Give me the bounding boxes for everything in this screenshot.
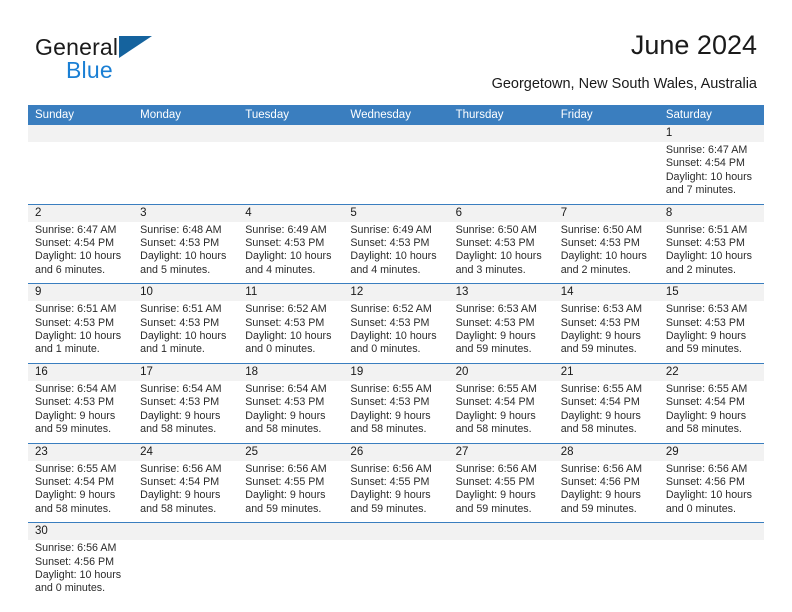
- day-cell[interactable]: Sunrise: 6:56 AMSunset: 4:55 PMDaylight:…: [343, 461, 448, 523]
- day-detail-line: Sunset: 4:53 PM: [35, 396, 127, 409]
- weekday-header-sunday: Sunday: [28, 105, 133, 125]
- day-number[interactable]: 14: [554, 284, 659, 301]
- day-number[interactable]: 28: [554, 444, 659, 461]
- calendar-week-row: 1Sunrise: 6:47 AMSunset: 4:54 PMDaylight…: [28, 125, 764, 204]
- day-detail-line: Daylight: 9 hours: [561, 489, 653, 502]
- day-cell-empty: [343, 142, 448, 204]
- day-detail-line: Sunrise: 6:50 AM: [561, 224, 653, 237]
- day-detail-line: Sunrise: 6:55 AM: [35, 463, 127, 476]
- day-detail-line: Sunrise: 6:56 AM: [456, 463, 548, 476]
- day-cell[interactable]: Sunrise: 6:52 AMSunset: 4:53 PMDaylight:…: [238, 301, 343, 363]
- day-detail-line: and 58 minutes.: [245, 423, 337, 436]
- day-detail-line: Daylight: 10 hours: [35, 569, 127, 582]
- day-detail-line: Daylight: 9 hours: [140, 410, 232, 423]
- day-detail-line: and 58 minutes.: [140, 503, 232, 516]
- day-detail-line: Sunset: 4:53 PM: [245, 237, 337, 250]
- day-cell-empty: [449, 142, 554, 204]
- day-detail-line: Sunset: 4:54 PM: [35, 476, 127, 489]
- day-cell-empty: [554, 142, 659, 204]
- day-cell[interactable]: Sunrise: 6:51 AMSunset: 4:53 PMDaylight:…: [133, 301, 238, 363]
- day-cell[interactable]: Sunrise: 6:50 AMSunset: 4:53 PMDaylight:…: [449, 222, 554, 284]
- day-detail-line: Sunset: 4:56 PM: [666, 476, 758, 489]
- day-cell[interactable]: Sunrise: 6:49 AMSunset: 4:53 PMDaylight:…: [343, 222, 448, 284]
- page-header: General Blue June 2024 Georgetown, New S…: [35, 30, 757, 98]
- day-detail-line: Sunset: 4:53 PM: [350, 396, 442, 409]
- day-detail-line: and 59 minutes.: [456, 343, 548, 356]
- general-blue-logo[interactable]: General Blue: [35, 34, 245, 94]
- weekday-header-row: SundayMondayTuesdayWednesdayThursdayFrid…: [28, 105, 764, 125]
- day-cell[interactable]: Sunrise: 6:51 AMSunset: 4:53 PMDaylight:…: [659, 222, 764, 284]
- calendar-page: General Blue June 2024 Georgetown, New S…: [0, 0, 792, 612]
- day-cell[interactable]: Sunrise: 6:51 AMSunset: 4:53 PMDaylight:…: [28, 301, 133, 363]
- day-detail-line: Sunrise: 6:47 AM: [666, 144, 758, 157]
- day-number[interactable]: 2: [28, 205, 133, 222]
- day-number[interactable]: 3: [133, 205, 238, 222]
- day-detail-line: Sunrise: 6:49 AM: [245, 224, 337, 237]
- day-number-band: 2345678: [28, 205, 764, 222]
- day-detail-line: Sunrise: 6:56 AM: [350, 463, 442, 476]
- day-detail-line: Daylight: 9 hours: [561, 410, 653, 423]
- day-cell[interactable]: Sunrise: 6:53 AMSunset: 4:53 PMDaylight:…: [554, 301, 659, 363]
- day-cell[interactable]: Sunrise: 6:56 AMSunset: 4:56 PMDaylight:…: [554, 461, 659, 523]
- day-cell[interactable]: Sunrise: 6:53 AMSunset: 4:53 PMDaylight:…: [449, 301, 554, 363]
- day-detail-line: and 1 minute.: [35, 343, 127, 356]
- day-detail-line: and 58 minutes.: [140, 423, 232, 436]
- day-detail-line: Sunset: 4:53 PM: [140, 237, 232, 250]
- day-detail-line: Daylight: 10 hours: [456, 250, 548, 263]
- day-number[interactable]: 20: [449, 364, 554, 381]
- day-detail-line: and 58 minutes.: [666, 423, 758, 436]
- day-detail-line: Daylight: 10 hours: [350, 250, 442, 263]
- calendar-week-row: 2345678Sunrise: 6:47 AMSunset: 4:54 PMDa…: [28, 204, 764, 284]
- day-detail-line: Daylight: 10 hours: [140, 330, 232, 343]
- day-cell-empty: [238, 540, 343, 602]
- day-detail-line: Sunset: 4:55 PM: [456, 476, 548, 489]
- day-body-band: Sunrise: 6:47 AMSunset: 4:54 PMDaylight:…: [28, 222, 764, 284]
- day-detail-line: and 59 minutes.: [561, 503, 653, 516]
- day-detail-line: and 1 minute.: [140, 343, 232, 356]
- day-detail-line: and 6 minutes.: [35, 264, 127, 277]
- day-cell-empty: [238, 142, 343, 204]
- day-detail-line: Sunrise: 6:51 AM: [140, 303, 232, 316]
- day-detail-line: Sunset: 4:54 PM: [456, 396, 548, 409]
- triangle-flag-icon: [119, 36, 152, 58]
- day-number-band: 1: [28, 125, 764, 142]
- day-detail-line: Sunrise: 6:54 AM: [245, 383, 337, 396]
- day-detail-line: Sunset: 4:53 PM: [456, 317, 548, 330]
- calendar-week-row: 16171819202122Sunrise: 6:54 AMSunset: 4:…: [28, 363, 764, 443]
- calendar-weeks: 1Sunrise: 6:47 AMSunset: 4:54 PMDaylight…: [28, 125, 764, 602]
- day-body-band: Sunrise: 6:47 AMSunset: 4:54 PMDaylight:…: [28, 142, 764, 204]
- day-detail-line: Sunset: 4:55 PM: [350, 476, 442, 489]
- day-detail-line: Daylight: 10 hours: [666, 250, 758, 263]
- day-body-band: Sunrise: 6:55 AMSunset: 4:54 PMDaylight:…: [28, 461, 764, 523]
- day-detail-line: Daylight: 9 hours: [456, 410, 548, 423]
- day-detail-line: Sunset: 4:56 PM: [561, 476, 653, 489]
- day-detail-line: Sunset: 4:53 PM: [666, 317, 758, 330]
- day-cell[interactable]: Sunrise: 6:50 AMSunset: 4:53 PMDaylight:…: [554, 222, 659, 284]
- day-cell[interactable]: Sunrise: 6:55 AMSunset: 4:54 PMDaylight:…: [28, 461, 133, 523]
- day-number[interactable]: 9: [28, 284, 133, 301]
- day-detail-line: Daylight: 10 hours: [245, 330, 337, 343]
- day-detail-line: Daylight: 9 hours: [245, 489, 337, 502]
- day-detail-line: and 7 minutes.: [666, 184, 758, 197]
- day-detail-line: Sunrise: 6:53 AM: [561, 303, 653, 316]
- day-body-band: Sunrise: 6:54 AMSunset: 4:53 PMDaylight:…: [28, 381, 764, 443]
- day-detail-line: Sunrise: 6:51 AM: [35, 303, 127, 316]
- day-detail-line: Sunrise: 6:56 AM: [245, 463, 337, 476]
- day-number[interactable]: 5: [343, 205, 448, 222]
- day-detail-line: Daylight: 10 hours: [666, 171, 758, 184]
- day-detail-line: and 59 minutes.: [350, 503, 442, 516]
- day-number[interactable]: 19: [343, 364, 448, 381]
- day-detail-line: Daylight: 10 hours: [561, 250, 653, 263]
- day-number[interactable]: 21: [554, 364, 659, 381]
- day-detail-line: Sunrise: 6:53 AM: [456, 303, 548, 316]
- day-detail-line: Sunset: 4:53 PM: [140, 317, 232, 330]
- weekday-header-thursday: Thursday: [449, 105, 554, 125]
- weekday-header-monday: Monday: [133, 105, 238, 125]
- day-cell[interactable]: Sunrise: 6:48 AMSunset: 4:53 PMDaylight:…: [133, 222, 238, 284]
- day-detail-line: Daylight: 10 hours: [350, 330, 442, 343]
- day-detail-line: Sunrise: 6:55 AM: [456, 383, 548, 396]
- day-detail-line: Sunrise: 6:56 AM: [140, 463, 232, 476]
- day-detail-line: Sunrise: 6:50 AM: [456, 224, 548, 237]
- day-detail-line: and 0 minutes.: [666, 503, 758, 516]
- day-cell-empty: [554, 540, 659, 602]
- day-detail-line: Sunrise: 6:56 AM: [666, 463, 758, 476]
- day-detail-line: Sunrise: 6:56 AM: [561, 463, 653, 476]
- day-detail-line: Sunset: 4:53 PM: [35, 317, 127, 330]
- day-detail-line: Daylight: 10 hours: [140, 250, 232, 263]
- calendar-week-row: 9101112131415Sunrise: 6:51 AMSunset: 4:5…: [28, 283, 764, 363]
- day-detail-line: Sunset: 4:54 PM: [666, 396, 758, 409]
- day-number[interactable]: 17: [133, 364, 238, 381]
- day-cell[interactable]: Sunrise: 6:54 AMSunset: 4:53 PMDaylight:…: [133, 381, 238, 443]
- day-cell-empty: [449, 540, 554, 602]
- day-detail-line: Sunset: 4:56 PM: [35, 556, 127, 569]
- day-detail-line: Daylight: 10 hours: [35, 330, 127, 343]
- day-detail-line: and 58 minutes.: [561, 423, 653, 436]
- day-cell[interactable]: Sunrise: 6:52 AMSunset: 4:53 PMDaylight:…: [343, 301, 448, 363]
- weekday-header-tuesday: Tuesday: [238, 105, 343, 125]
- calendar-week-row: 23242526272829Sunrise: 6:55 AMSunset: 4:…: [28, 443, 764, 523]
- day-detail-line: Daylight: 9 hours: [140, 489, 232, 502]
- day-detail-line: Daylight: 9 hours: [666, 410, 758, 423]
- day-detail-line: and 58 minutes.: [350, 423, 442, 436]
- day-detail-line: and 59 minutes.: [35, 423, 127, 436]
- day-cell[interactable]: Sunrise: 6:55 AMSunset: 4:54 PMDaylight:…: [659, 381, 764, 443]
- day-number-band: 23242526272829: [28, 444, 764, 461]
- day-number[interactable]: 15: [659, 284, 764, 301]
- day-detail-line: and 5 minutes.: [140, 264, 232, 277]
- day-detail-line: Sunrise: 6:52 AM: [245, 303, 337, 316]
- day-detail-line: Daylight: 9 hours: [666, 330, 758, 343]
- day-detail-line: Sunrise: 6:55 AM: [561, 383, 653, 396]
- day-detail-line: and 59 minutes.: [666, 343, 758, 356]
- day-detail-line: and 4 minutes.: [350, 264, 442, 277]
- day-cell[interactable]: Sunrise: 6:56 AMSunset: 4:55 PMDaylight:…: [238, 461, 343, 523]
- day-cell[interactable]: Sunrise: 6:54 AMSunset: 4:53 PMDaylight:…: [28, 381, 133, 443]
- day-detail-line: Daylight: 9 hours: [350, 410, 442, 423]
- day-number[interactable]: 13: [449, 284, 554, 301]
- day-number[interactable]: 27: [449, 444, 554, 461]
- day-detail-line: Sunset: 4:53 PM: [456, 237, 548, 250]
- day-cell[interactable]: Sunrise: 6:56 AMSunset: 4:54 PMDaylight:…: [133, 461, 238, 523]
- day-number[interactable]: 10: [133, 284, 238, 301]
- sunrise-sunset-calendar: SundayMondayTuesdayWednesdayThursdayFrid…: [28, 105, 764, 602]
- day-detail-line: Daylight: 9 hours: [350, 489, 442, 502]
- weekday-header-saturday: Saturday: [659, 105, 764, 125]
- day-number[interactable]: 25: [238, 444, 343, 461]
- day-detail-line: and 59 minutes.: [245, 503, 337, 516]
- day-detail-line: and 58 minutes.: [456, 423, 548, 436]
- day-number[interactable]: 7: [554, 205, 659, 222]
- day-detail-line: and 0 minutes.: [350, 343, 442, 356]
- logo-text-blue: Blue: [66, 57, 113, 84]
- weekday-header-wednesday: Wednesday: [343, 105, 448, 125]
- day-detail-line: Sunrise: 6:51 AM: [666, 224, 758, 237]
- day-detail-line: and 3 minutes.: [456, 264, 548, 277]
- weekday-header-friday: Friday: [554, 105, 659, 125]
- day-detail-line: and 2 minutes.: [561, 264, 653, 277]
- day-number-band: 30: [28, 523, 764, 540]
- day-cell-empty: [659, 540, 764, 602]
- day-detail-line: Daylight: 10 hours: [245, 250, 337, 263]
- day-number-band: 9101112131415: [28, 284, 764, 301]
- day-number[interactable]: 8: [659, 205, 764, 222]
- day-detail-line: Sunset: 4:53 PM: [666, 237, 758, 250]
- day-cell[interactable]: Sunrise: 6:55 AMSunset: 4:54 PMDaylight:…: [449, 381, 554, 443]
- day-cell[interactable]: Sunrise: 6:49 AMSunset: 4:53 PMDaylight:…: [238, 222, 343, 284]
- day-detail-line: Daylight: 9 hours: [35, 410, 127, 423]
- day-number[interactable]: 6: [449, 205, 554, 222]
- day-detail-line: and 0 minutes.: [35, 582, 127, 595]
- day-detail-line: Daylight: 9 hours: [456, 489, 548, 502]
- day-detail-line: Sunset: 4:53 PM: [140, 396, 232, 409]
- day-number[interactable]: 30: [28, 523, 133, 540]
- day-cell-empty: [133, 540, 238, 602]
- day-cell[interactable]: Sunrise: 6:55 AMSunset: 4:53 PMDaylight:…: [343, 381, 448, 443]
- day-number[interactable]: 29: [659, 444, 764, 461]
- day-detail-line: Daylight: 9 hours: [245, 410, 337, 423]
- page-subtitle: Georgetown, New South Wales, Australia: [492, 76, 757, 92]
- page-title: June 2024: [631, 30, 757, 61]
- day-detail-line: Daylight: 10 hours: [35, 250, 127, 263]
- day-detail-line: and 59 minutes.: [456, 503, 548, 516]
- day-cell[interactable]: Sunrise: 6:56 AMSunset: 4:56 PMDaylight:…: [28, 540, 133, 602]
- day-detail-line: Sunset: 4:53 PM: [245, 317, 337, 330]
- day-number[interactable]: 16: [28, 364, 133, 381]
- day-detail-line: Sunrise: 6:52 AM: [350, 303, 442, 316]
- day-cell[interactable]: Sunrise: 6:56 AMSunset: 4:56 PMDaylight:…: [659, 461, 764, 523]
- day-number[interactable]: 1: [659, 125, 764, 142]
- day-detail-line: Sunset: 4:53 PM: [561, 237, 653, 250]
- day-detail-line: Sunset: 4:53 PM: [350, 317, 442, 330]
- day-cell-empty: [133, 142, 238, 204]
- day-detail-line: Daylight: 9 hours: [561, 330, 653, 343]
- day-detail-line: Sunrise: 6:54 AM: [35, 383, 127, 396]
- day-number-band: 16171819202122: [28, 364, 764, 381]
- day-body-band: Sunrise: 6:56 AMSunset: 4:56 PMDaylight:…: [28, 540, 764, 602]
- day-cell[interactable]: Sunrise: 6:53 AMSunset: 4:53 PMDaylight:…: [659, 301, 764, 363]
- day-cell[interactable]: Sunrise: 6:56 AMSunset: 4:55 PMDaylight:…: [449, 461, 554, 523]
- day-cell[interactable]: Sunrise: 6:47 AMSunset: 4:54 PMDaylight:…: [28, 222, 133, 284]
- day-number[interactable]: 4: [238, 205, 343, 222]
- day-number[interactable]: 22: [659, 364, 764, 381]
- day-detail-line: Daylight: 9 hours: [456, 330, 548, 343]
- day-detail-line: Sunrise: 6:47 AM: [35, 224, 127, 237]
- day-detail-line: and 59 minutes.: [561, 343, 653, 356]
- day-cell[interactable]: Sunrise: 6:47 AMSunset: 4:54 PMDaylight:…: [659, 142, 764, 204]
- day-detail-line: Sunset: 4:54 PM: [666, 157, 758, 170]
- day-cell-empty: [343, 540, 448, 602]
- day-detail-line: Sunset: 4:53 PM: [561, 317, 653, 330]
- day-detail-line: Daylight: 10 hours: [666, 489, 758, 502]
- day-number[interactable]: 11: [238, 284, 343, 301]
- day-detail-line: and 58 minutes.: [35, 503, 127, 516]
- day-detail-line: and 0 minutes.: [245, 343, 337, 356]
- day-detail-line: Daylight: 9 hours: [35, 489, 127, 502]
- day-detail-line: Sunset: 4:54 PM: [35, 237, 127, 250]
- day-detail-line: Sunset: 4:54 PM: [561, 396, 653, 409]
- day-cell[interactable]: Sunrise: 6:55 AMSunset: 4:54 PMDaylight:…: [554, 381, 659, 443]
- day-detail-line: Sunrise: 6:55 AM: [350, 383, 442, 396]
- calendar-week-row: 30Sunrise: 6:56 AMSunset: 4:56 PMDayligh…: [28, 522, 764, 602]
- day-cell-empty: [28, 142, 133, 204]
- day-number[interactable]: 24: [133, 444, 238, 461]
- day-detail-line: Sunset: 4:55 PM: [245, 476, 337, 489]
- day-detail-line: Sunrise: 6:56 AM: [35, 542, 127, 555]
- day-number[interactable]: 12: [343, 284, 448, 301]
- day-number[interactable]: 23: [28, 444, 133, 461]
- day-number[interactable]: 18: [238, 364, 343, 381]
- day-detail-line: Sunrise: 6:53 AM: [666, 303, 758, 316]
- day-body-band: Sunrise: 6:51 AMSunset: 4:53 PMDaylight:…: [28, 301, 764, 363]
- day-detail-line: Sunrise: 6:49 AM: [350, 224, 442, 237]
- day-detail-line: Sunset: 4:53 PM: [245, 396, 337, 409]
- day-detail-line: Sunrise: 6:54 AM: [140, 383, 232, 396]
- day-detail-line: Sunrise: 6:55 AM: [666, 383, 758, 396]
- day-number[interactable]: 26: [343, 444, 448, 461]
- day-detail-line: and 2 minutes.: [666, 264, 758, 277]
- day-detail-line: Sunrise: 6:48 AM: [140, 224, 232, 237]
- day-detail-line: Sunset: 4:53 PM: [350, 237, 442, 250]
- day-detail-line: Sunset: 4:54 PM: [140, 476, 232, 489]
- day-detail-line: and 4 minutes.: [245, 264, 337, 277]
- day-cell[interactable]: Sunrise: 6:54 AMSunset: 4:53 PMDaylight:…: [238, 381, 343, 443]
